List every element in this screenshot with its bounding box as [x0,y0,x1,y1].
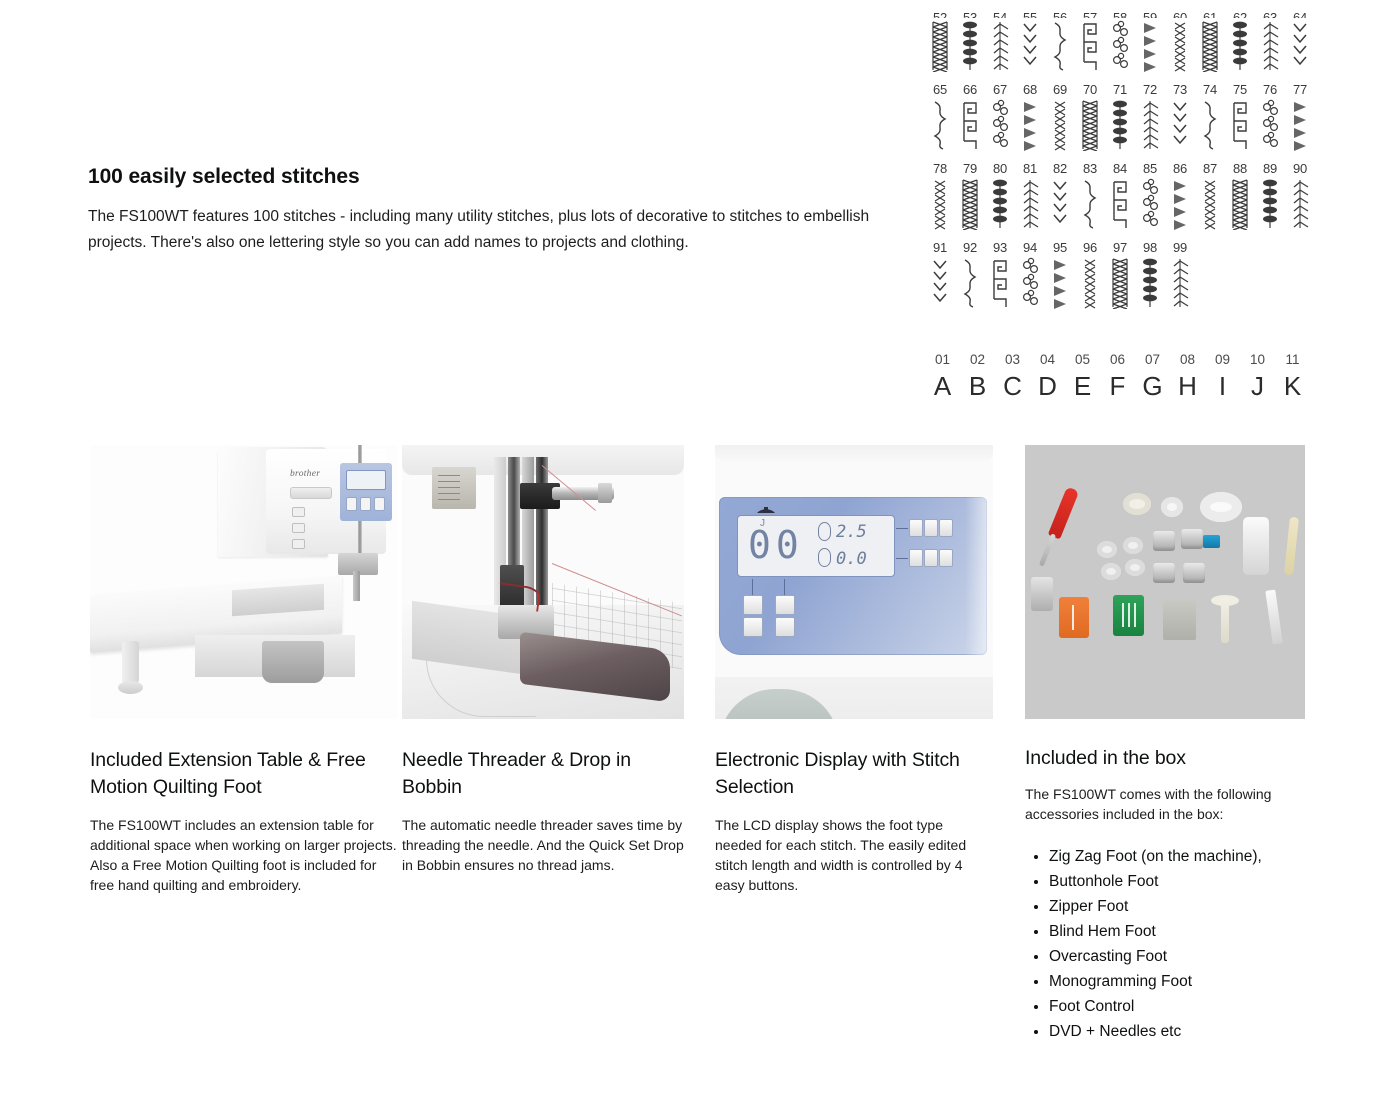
stitch-glyph-icon [925,18,955,74]
needle-threader-photo [402,445,684,719]
stitch-cell: 96 [1075,240,1105,311]
stitch-cell: 89 [1255,161,1285,232]
bobbin-2 [1123,537,1143,554]
feature-column-extension-table: brother Included Extension Table & Free … [90,445,398,895]
stitch-glyph-icon [1075,97,1105,153]
stitch-cell: 54 [985,10,1015,74]
stitch-glyph-icon [925,255,955,311]
stitch-number: 98 [1135,240,1165,255]
stitch-width-icon [818,522,831,541]
stitch-glyph-icon [1195,18,1225,74]
machine-knobs [290,487,332,499]
stitch-cell: 64 [1285,10,1315,74]
stitch-number: 56 [1045,10,1075,18]
lcd-display-photo: J 00 2.5 0.0 [715,445,993,719]
alphabet-number: 06 [1100,350,1135,370]
stitch-number: 93 [985,240,1015,255]
stitch-cell: 84 [1105,161,1135,232]
stitch-number: 99 [1165,240,1195,255]
stitch-glyph-icon [1015,18,1045,74]
alphabet-number: 04 [1030,350,1065,370]
lead-line-1 [896,528,908,529]
stitch-number: 79 [955,161,985,176]
stitch-cell: 76 [1255,82,1285,153]
stitch-number: 96 [1075,240,1105,255]
stitch-width-buttons[interactable] [909,519,953,537]
stitch-glyph-icon [1105,97,1135,153]
stitch-number: 66 [955,82,985,97]
presser-foot-icon [755,502,777,510]
screwdriver [1265,590,1282,645]
bobbin-4 [1125,559,1145,576]
cleaning-brush [1284,517,1299,576]
lead-line-3 [752,579,753,595]
stitch-number: 94 [1015,240,1045,255]
stitch-number: 57 [1075,10,1105,18]
stitch-cell: 79 [955,161,985,232]
stitch-number: 65 [925,82,955,97]
stitch-number: 76 [1255,82,1285,97]
stitch-cell: 99 [1165,240,1195,311]
stitch-cell: 73 [1165,82,1195,153]
stitch-glyph-icon [1255,97,1285,153]
stitch-number: 90 [1285,161,1315,176]
stitch-select-buttons-units[interactable] [775,595,795,637]
list-item: Buttonhole Foot [1049,869,1305,894]
stitch-glyph-icon [1135,18,1165,74]
stitch-cell: 98 [1135,240,1165,311]
stitch-cell: 58 [1105,10,1135,74]
stitch-glyph-icon [985,255,1015,311]
stitch-number: 83 [1075,161,1105,176]
stitch-number: 92 [955,240,985,255]
stitch-number: 95 [1045,240,1075,255]
stitch-cell: 90 [1285,161,1315,232]
feature-column-lcd-display: J 00 2.5 0.0 Electronic Display with [715,445,993,895]
list-item: DVD + Needles etc [1049,1019,1305,1044]
spool-cap-small [1161,497,1183,517]
green-needle-pack [1113,595,1144,636]
free-arm [262,641,324,683]
stitch-number: 78 [925,161,955,176]
alphabet-number-row: 0102030405060708091011 [925,350,1315,370]
bobbin-3 [1101,563,1121,580]
alphabet-number: 10 [1240,350,1275,370]
stitch-cell: 70 [1075,82,1105,153]
lcd-length-value: 0.0 [836,549,867,569]
stitch-select-buttons-tens[interactable] [743,595,763,637]
stitch-cell: 83 [1075,161,1105,232]
stitch-glyph-icon [1075,255,1105,311]
accessories-photo [1025,445,1305,719]
orange-needle-pack [1059,597,1089,638]
list-item: Foot Control [1049,994,1305,1019]
stitch-cell: 63 [1255,10,1285,74]
stitch-number: 62 [1225,10,1255,18]
stitch-number: 63 [1255,10,1285,18]
presser-foot-zipper [1183,563,1205,583]
stitch-number: 64 [1285,10,1315,18]
stitch-cell: 92 [955,240,985,311]
needle-set-card [1163,600,1196,640]
alphabet-number: 07 [1135,350,1170,370]
stitch-glyph-icon [1135,176,1165,232]
bobbin-1 [1097,541,1117,558]
stitch-number: 60 [1165,10,1195,18]
stitch-cell: 57 [1075,10,1105,74]
stitch-glyph-icon [1225,176,1255,232]
stitch-number: 74 [1195,82,1225,97]
stitch-length-buttons[interactable] [909,549,953,567]
stitch-glyph-icon [1015,176,1045,232]
stitch-glyph-icon [955,18,985,74]
stitch-number: 89 [1255,161,1285,176]
stitch-glyph-icon [1195,176,1225,232]
alphabet-letter: K [1275,370,1310,402]
alphabet-letter: J [1240,370,1275,402]
stitch-cell: 75 [1225,82,1255,153]
seam-ripper-handle [1048,486,1080,539]
feature-body: The LCD display shows the foot type need… [715,815,993,895]
alphabet-number: 02 [960,350,995,370]
stitch-cell: 60 [1165,10,1195,74]
stitch-glyph-icon [1045,255,1075,311]
feature-body: The FS100WT includes an extension table … [90,815,398,895]
stitch-number: 71 [1105,82,1135,97]
stitch-number: 72 [1135,82,1165,97]
spool-disc [1200,492,1242,522]
stitch-cell: 72 [1135,82,1165,153]
alphabet-number: 01 [925,350,960,370]
stitch-glyph-icon [1015,255,1045,311]
stitch-number: 91 [925,240,955,255]
stitch-glyph-icon [1105,176,1135,232]
alphabet-letter: I [1205,370,1240,402]
list-item: Blind Hem Foot [1049,919,1305,944]
alphabet-letter: B [960,370,995,402]
stitch-glyph-icon [1075,18,1105,74]
stitch-number: 70 [1075,82,1105,97]
stitch-glyph-icon [1135,97,1165,153]
stitch-glyph-icon [1015,97,1045,153]
stitch-row: 65666768697071727374757677 [925,82,1315,153]
stitch-glyph-icon [1255,18,1285,74]
stitch-number: 77 [1285,82,1315,97]
alphabet-number: 08 [1170,350,1205,370]
stitch-cell: 62 [1225,10,1255,74]
stitch-number: 67 [985,82,1015,97]
stitch-cell: 78 [925,161,955,232]
stitch-cell: 69 [1045,82,1075,153]
extension-table-photo: brother [90,445,398,719]
stitch-pattern-chart: 5253545556575859606162636465666768697071… [925,22,1315,319]
stitch-cell: 97 [1105,240,1135,311]
stitch-cell: 80 [985,161,1015,232]
stitch-row: 919293949596979899 [925,240,1315,311]
stitch-cell: 56 [1045,10,1075,74]
lcd-width-value: 2.5 [836,522,867,542]
feature-body: The automatic needle threader saves time… [402,815,684,875]
stitch-cell: 86 [1165,161,1195,232]
machine-lcd-panel [340,463,392,521]
stitch-glyph-icon [1045,18,1075,74]
buttonhole-foot [1243,517,1269,575]
stitch-number: 87 [1195,161,1225,176]
stitch-glyph-icon [1165,176,1195,232]
stitch-glyph-icon [1105,18,1135,74]
alphabet-number: 09 [1205,350,1240,370]
stitch-glyph-icon [1165,255,1195,311]
lettering-style-chart: 0102030405060708091011ABCDEFGHIJK [925,350,1315,402]
stitch-glyph-icon [985,18,1015,74]
stitch-cell: 53 [955,10,985,74]
stitch-number: 85 [1135,161,1165,176]
alphabet-letter: C [995,370,1030,402]
stitch-glyph-icon [955,255,985,311]
list-item: Zig Zag Foot (on the machine), [1049,844,1305,869]
stitch-glyph-icon [955,97,985,153]
stitch-number: 81 [1015,161,1045,176]
intro-body: The FS100WT features 100 stitches - incl… [88,204,918,256]
stitch-cell: 91 [925,240,955,311]
lcd-screen: J 00 2.5 0.0 [737,515,895,577]
seam-ripper-blade [1039,533,1056,566]
stitch-number: 84 [1105,161,1135,176]
machine-panel-button-1 [346,497,357,511]
stitch-cell: 95 [1045,240,1075,311]
stitch-number: 58 [1105,10,1135,18]
stitch-glyph-icon [1165,97,1195,153]
stitch-number: 53 [955,10,985,18]
presser-foot-blindhem [1153,563,1175,583]
stitch-row: 78798081828384858687888990 [925,161,1315,232]
stitch-cell: 81 [1015,161,1045,232]
stitch-number: 55 [1015,10,1045,18]
stitch-number: 80 [985,161,1015,176]
alphabet-number: 05 [1065,350,1100,370]
intro-block: 100 easily selected stitches The FS100WT… [88,164,918,256]
stitch-cell: 88 [1225,161,1255,232]
stitch-row: 52535455565758596061626364 [925,10,1315,74]
stitch-cell: 52 [925,10,955,74]
presser-foot-overcasting [1181,529,1203,549]
stitch-length-icon [818,548,831,567]
stitch-number: 97 [1105,240,1135,255]
stitch-glyph-icon [925,176,955,232]
blue-accessory-chip [1203,535,1220,548]
alphabet-letter-row: ABCDEFGHIJK [925,370,1315,402]
stitch-number: 88 [1225,161,1255,176]
list-item: Overcasting Foot [1049,944,1305,969]
stitch-cell: 55 [1015,10,1045,74]
lead-line-2 [896,558,908,559]
feature-column-needle-threader: Needle Threader & Drop in Bobbin The aut… [402,445,684,875]
stitch-cell: 65 [925,82,955,153]
stitch-cell: 74 [1195,82,1225,153]
list-item: Monogramming Foot [1049,969,1305,994]
stitch-glyph-icon [1225,97,1255,153]
feature-column-in-the-box: Included in the box The FS100WT comes wi… [1025,445,1305,1044]
stitch-cell: 93 [985,240,1015,311]
stitch-glyph-icon [955,176,985,232]
presser-foot-shank [353,571,360,601]
stitch-number: 61 [1195,10,1225,18]
stitch-cell: 85 [1135,161,1165,232]
alphabet-letter: E [1065,370,1100,402]
stitch-cell: 59 [1135,10,1165,74]
alphabet-letter: H [1170,370,1205,402]
stitch-number: 68 [1015,82,1045,97]
stitch-number: 59 [1135,10,1165,18]
stitch-glyph-icon [1225,18,1255,74]
stitch-glyph-icon [1285,18,1315,74]
list-item: Zipper Foot [1049,894,1305,919]
machine-button-2 [292,523,305,533]
stitch-glyph-icon [1285,97,1315,153]
table-support-foot [118,681,143,694]
stitch-cell: 67 [985,82,1015,153]
brother-logo: brother [290,469,320,479]
monogramming-foot [1031,577,1053,611]
stitch-number: 52 [925,10,955,18]
stitch-glyph-icon [1135,255,1165,311]
threader-rod-cap [598,483,612,503]
needle-guide-label [432,467,476,509]
alphabet-letter: G [1135,370,1170,402]
machine-button-1 [292,507,305,517]
lcd-stitch-number: 00 [748,526,804,564]
stitch-cell: 61 [1195,10,1225,74]
machine-top-edge [715,445,993,461]
feature-title: Needle Threader & Drop in Bobbin [402,747,684,801]
stitch-glyph-icon [1105,255,1135,311]
table-support-leg [122,641,139,683]
machine-panel-button-3 [374,497,385,511]
feature-title: Included in the box [1025,745,1305,772]
included-accessories-list: Zig Zag Foot (on the machine),Buttonhole… [1025,844,1305,1044]
stitch-glyph-icon [1075,176,1105,232]
spool-cap-large [1123,493,1151,515]
machine-button-3 [292,539,305,549]
machine-lcd-screen [346,470,386,490]
stitch-cell: 68 [1015,82,1045,153]
presser-foot-zigzag [1153,531,1175,551]
stitch-glyph-icon [1045,176,1075,232]
stitch-cell: 71 [1105,82,1135,153]
alphabet-number: 11 [1275,350,1310,370]
alphabet-letter: A [925,370,960,402]
feature-body: The FS100WT comes with the following acc… [1025,784,1305,824]
stitch-cell: 82 [1045,161,1075,232]
alphabet-letter: F [1100,370,1135,402]
stitch-glyph-icon [1165,18,1195,74]
feature-title: Included Extension Table & Free Motion Q… [90,747,398,801]
stitch-glyph-icon [1045,97,1075,153]
lead-line-4 [784,579,785,595]
alphabet-letter: D [1030,370,1065,402]
stitch-glyph-icon [985,97,1015,153]
stitch-glyph-icon [1195,97,1225,153]
stitch-number: 54 [985,10,1015,18]
feature-title: Electronic Display with Stitch Selection [715,747,993,801]
machine-panel-button-2 [360,497,371,511]
stitch-number: 82 [1045,161,1075,176]
stitch-cell: 66 [955,82,985,153]
control-panel: J 00 2.5 0.0 [719,497,987,655]
stitch-cell: 77 [1285,82,1315,153]
stitch-number: 86 [1165,161,1195,176]
stitch-number: 69 [1045,82,1075,97]
stitch-glyph-icon [985,176,1015,232]
spool-pin [1221,597,1229,643]
stitch-cell: 87 [1195,161,1225,232]
alphabet-number: 03 [995,350,1030,370]
stitch-number: 75 [1225,82,1255,97]
stitch-glyph-icon [1285,176,1315,232]
intro-title: 100 easily selected stitches [88,164,918,190]
stitch-cell: 94 [1015,240,1045,311]
stitch-number: 73 [1165,82,1195,97]
stitch-glyph-icon [925,97,955,153]
stitch-glyph-icon [1255,176,1285,232]
